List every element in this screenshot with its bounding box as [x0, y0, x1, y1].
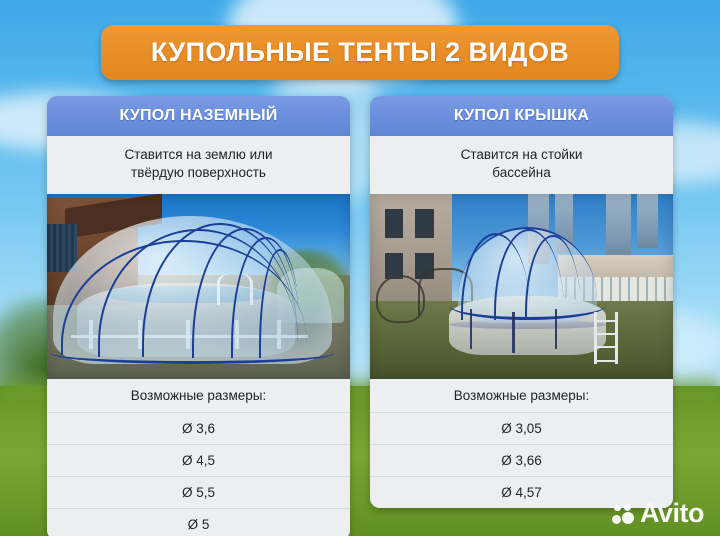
- product-photo-lid-dome: [370, 194, 673, 379]
- card-title: КУПОЛ НАЗЕМНЫЙ: [120, 107, 278, 125]
- avito-watermark: Avito: [612, 500, 704, 527]
- card-subtitle: Ставится на землю или твёрдую поверхност…: [47, 136, 350, 194]
- card-header: КУПОЛ КРЫШКА: [370, 96, 673, 136]
- card-subtitle-line-1: Ставится на землю или: [124, 147, 272, 162]
- card-subtitle: Ставится на стойки бассейна: [370, 136, 673, 194]
- avito-dots-icon: [612, 504, 634, 524]
- card-ground-dome: КУПОЛ НАЗЕМНЫЙ Ставится на землю или твё…: [47, 96, 350, 536]
- cards-row: КУПОЛ НАЗЕМНЫЙ Ставится на землю или твё…: [47, 96, 673, 536]
- size-row: Ø 5: [47, 508, 350, 536]
- card-subtitle-line-2: бассейна: [492, 165, 550, 180]
- card-subtitle-line-1: Ставится на стойки: [461, 147, 583, 162]
- sizes-title: Возможные размеры:: [47, 379, 350, 412]
- poster-canvas: КУПОЛЬНЫЕ ТЕНТЫ 2 ВИДОВ КУПОЛ НАЗЕМНЫЙ С…: [0, 0, 720, 536]
- sizes-title: Возможные размеры:: [370, 379, 673, 412]
- product-photo-ground-dome: [47, 194, 350, 379]
- avito-wordmark: Avito: [640, 500, 704, 527]
- title-banner: КУПОЛЬНЫЕ ТЕНТЫ 2 ВИДОВ: [101, 25, 619, 80]
- card-lid-dome: КУПОЛ КРЫШКА Ставится на стойки бассейна: [370, 96, 673, 508]
- page-title: КУПОЛЬНЫЕ ТЕНТЫ 2 ВИДОВ: [151, 37, 569, 68]
- size-row: Ø 3,05: [370, 412, 673, 444]
- card-title: КУПОЛ КРЫШКА: [454, 107, 589, 125]
- size-row: Ø 4,5: [47, 444, 350, 476]
- size-row: Ø 3,6: [47, 412, 350, 444]
- card-header: КУПОЛ НАЗЕМНЫЙ: [47, 96, 350, 136]
- card-subtitle-line-2: твёрдую поверхность: [131, 165, 266, 180]
- size-row: Ø 5,5: [47, 476, 350, 508]
- size-row: Ø 3,66: [370, 444, 673, 476]
